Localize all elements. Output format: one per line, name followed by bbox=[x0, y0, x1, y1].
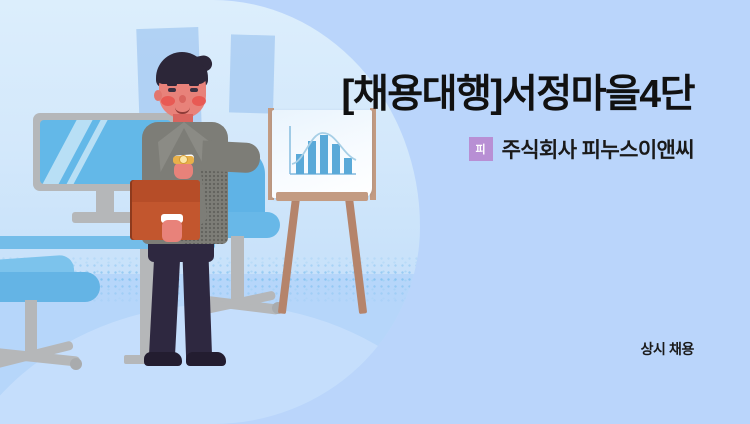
businessman-illustration bbox=[118, 52, 278, 372]
job-posting-banner: [채용대행]서정마을4단 피 주식회사 피누스이앤씨 상시 채용 bbox=[0, 0, 750, 424]
company-logo-badge: 피 bbox=[469, 137, 493, 161]
hiring-type-label: 상시 채용 bbox=[641, 339, 694, 359]
monitor-neck bbox=[96, 190, 114, 214]
company-name: 주식회사 피누스이앤씨 bbox=[502, 134, 694, 164]
company-row: 피 주식회사 피누스이앤씨 bbox=[469, 134, 694, 164]
office-chair-seat bbox=[0, 272, 100, 302]
job-title: [채용대행]서정마을4단 bbox=[341, 74, 694, 117]
banner-content: [채용대행]서정마을4단 피 주식회사 피누스이앤씨 상시 채용 bbox=[270, 0, 750, 424]
